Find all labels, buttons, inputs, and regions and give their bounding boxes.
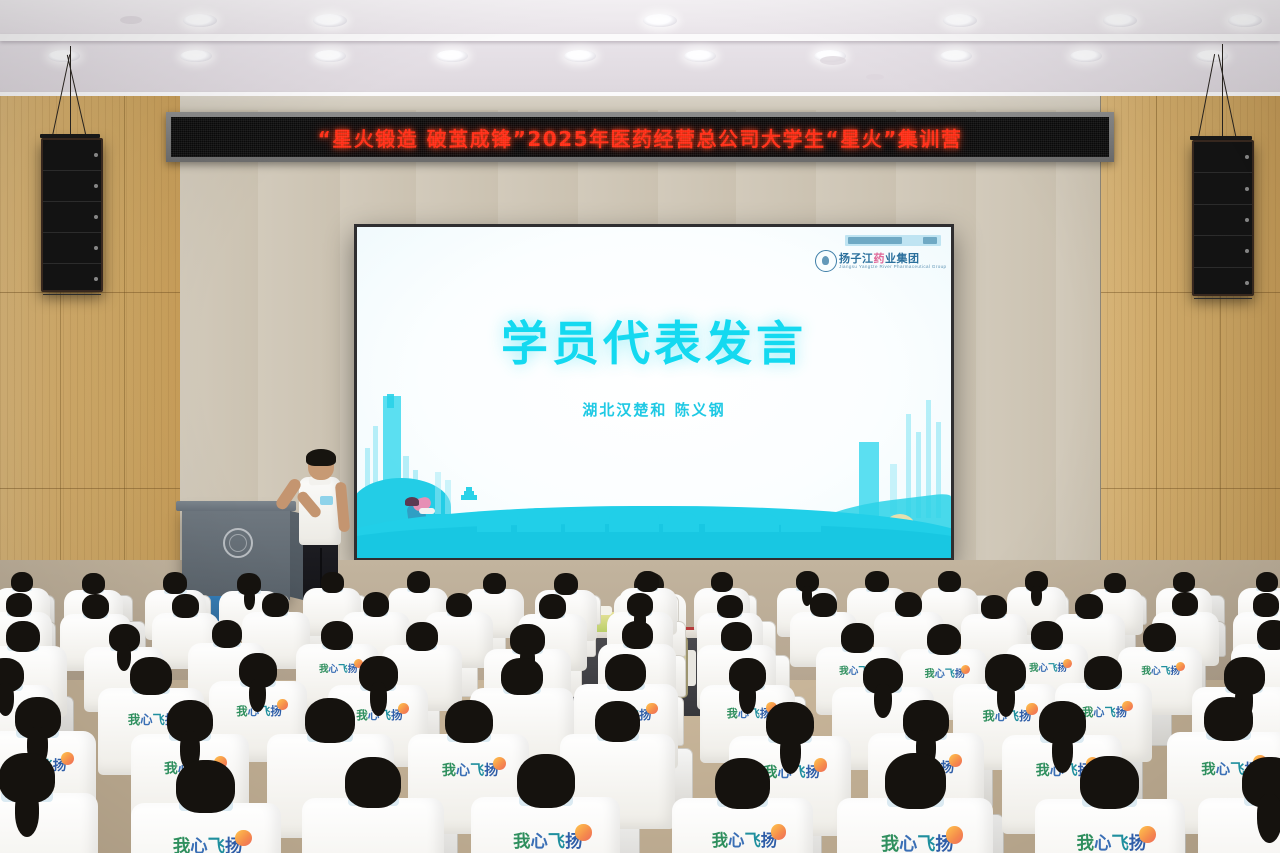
audience-member: [1198, 757, 1280, 853]
logo-tagline-bar: [845, 235, 941, 246]
speaker-segment: [43, 140, 101, 171]
audience-head: [1172, 592, 1198, 616]
audience-head: [1173, 572, 1195, 592]
ceiling-downlight: [183, 14, 217, 27]
audience-head: [1031, 621, 1063, 650]
audience-member: 我心飞扬: [471, 754, 620, 853]
ceiling-lower-band: [0, 41, 1280, 92]
ceiling-downlight: [643, 14, 677, 27]
audience-head: [717, 595, 743, 618]
wave-bump: [749, 514, 779, 532]
audience-head: [212, 620, 243, 648]
pagoda-tier: [461, 495, 477, 500]
audience-head: [721, 622, 752, 650]
audience-head: [938, 571, 960, 591]
audience-ponytail: [1257, 794, 1280, 843]
audience-head: [321, 621, 354, 651]
audience-head: [130, 657, 172, 695]
audience-head: [895, 592, 923, 617]
audience-member: 我心飞扬: [672, 758, 813, 853]
uniform-logo-text: 我心飞扬: [1077, 836, 1147, 853]
audience-head: [176, 760, 235, 814]
audience-head: [1080, 756, 1139, 810]
uniform-logo-text: 我心飞扬: [513, 834, 582, 851]
audience-head: [1075, 594, 1103, 619]
audience-head: [841, 623, 874, 653]
audience-head: [554, 573, 578, 595]
ceiling-downlight: [940, 50, 972, 62]
ceiling-downlight: [1070, 50, 1102, 62]
wood-seam: [0, 488, 180, 489]
pagoda-tier: [466, 487, 472, 491]
uniform-logo-text: 我心飞扬: [173, 839, 243, 853]
ceiling-downlight: [684, 50, 716, 62]
audience-head: [1143, 623, 1176, 653]
slide-title: 学员代表发言: [357, 305, 951, 374]
uniform-logo-text: 我心飞扬: [712, 833, 777, 849]
line-array-speaker: [41, 138, 103, 292]
illustration-figure-arm: [419, 508, 435, 514]
speaker-segment: [1194, 236, 1252, 267]
audience-ponytail: [15, 789, 39, 837]
audience-head: [865, 571, 889, 593]
ceiling-downlight: [1103, 14, 1137, 27]
audience-head: [1256, 572, 1278, 592]
logo-emblem-icon: [815, 250, 837, 272]
audience-head: [305, 698, 355, 743]
audience-head: [636, 571, 659, 592]
wall-panel: [976, 96, 1057, 616]
audience-seating: 我心飞扬我心飞扬我心飞扬我心飞扬我心飞扬我心飞扬我心飞扬我心飞扬我心飞扬我心飞扬…: [0, 560, 1280, 853]
ceiling-lip-upper: [0, 34, 1280, 41]
audience-head: [11, 572, 33, 592]
wood-seam: [1100, 488, 1280, 489]
audience-member: 我心飞扬: [1035, 756, 1185, 853]
audience-head: [345, 757, 401, 808]
pagoda-tier: [464, 491, 474, 495]
wave-bump: [663, 512, 699, 532]
ceiling-downlight: [313, 14, 347, 27]
uniform-logo-sun: [771, 824, 787, 840]
wood-seam: [1156, 96, 1157, 616]
audience-member: 我心飞扬: [131, 760, 281, 853]
audience-head: [262, 593, 289, 617]
wall-top-strip: [180, 96, 1100, 110]
uniform-logo-sun: [575, 824, 591, 840]
audience-head: [6, 593, 32, 617]
wall-panel: [1056, 96, 1101, 616]
speaker-segment: [1194, 173, 1252, 204]
audience-head: [810, 593, 836, 617]
audience-head: [605, 654, 646, 691]
audience-head: [1204, 697, 1253, 741]
line-array-speaker: [1192, 140, 1254, 296]
ceiling-vent: [866, 74, 884, 80]
uniform-logo-sun: [946, 826, 963, 843]
audience-member: [302, 757, 444, 853]
speaker-segment: [1194, 205, 1252, 236]
ceiling-downlight: [314, 50, 346, 62]
wave-bump: [609, 506, 659, 532]
audience-head: [927, 624, 961, 655]
speaker-segment: [43, 264, 101, 295]
ceiling: [0, 0, 1280, 96]
audience-head: [539, 594, 566, 619]
wood-seam: [124, 96, 125, 616]
building-antenna: [387, 394, 394, 408]
audience-head: [501, 658, 542, 695]
audience-head: [407, 571, 431, 592]
audience-head: [711, 572, 733, 592]
audience-head: [885, 753, 946, 809]
led-banner-screen: “星火锻造 破茧成锋”2025年医药经营总公司大学生“星火”集训营: [171, 117, 1109, 157]
wave-bump: [477, 512, 511, 532]
logo-english-name: Jiangsu Yangtze River Pharmaceutical Gro…: [839, 264, 946, 269]
speaker-segment: [43, 202, 101, 233]
audience-head: [595, 701, 640, 742]
speaker-segment: [1194, 268, 1252, 299]
audience-head: [6, 621, 40, 652]
ceiling-downlight: [436, 50, 468, 62]
ceiling-downlight: [48, 50, 80, 62]
presenter-hair: [306, 449, 336, 466]
uniform-logo-sun: [1139, 826, 1156, 843]
audience-head: [406, 622, 438, 651]
ceiling-downlight: [943, 14, 977, 27]
wave-bump: [705, 510, 749, 532]
wave-bump: [517, 508, 561, 532]
audience-head: [483, 573, 506, 594]
uniform-logo-text: 我心飞扬: [881, 836, 954, 853]
wave-bump: [565, 510, 605, 532]
speaker-segment: [43, 233, 101, 264]
audience-head: [517, 754, 576, 807]
ceiling-downlight: [564, 50, 596, 62]
ceiling-downlight: [1228, 14, 1262, 27]
podium-emblem-icon: [223, 528, 253, 558]
audience-head: [446, 593, 473, 617]
audience-head: [163, 572, 187, 594]
audience-head: [715, 758, 770, 808]
ceiling-vent: [120, 16, 142, 24]
conference-hall-photo: “星火锻造 破茧成锋”2025年医药经营总公司大学生“星火”集训营 扬子江药业集…: [0, 0, 1280, 853]
audience-head: [1104, 573, 1126, 593]
audience-ponytail: [1031, 586, 1041, 606]
audience-head: [172, 594, 198, 618]
audience-head: [445, 700, 493, 743]
slide-cityscape-artwork: [357, 393, 951, 558]
led-banner-text: “星火锻造 破茧成锋”2025年医药经营总公司大学生“星火”集训营: [318, 123, 963, 152]
building: [445, 480, 451, 514]
audience-head: [82, 594, 110, 619]
audience-head: [981, 595, 1007, 619]
audience-head: [1084, 656, 1122, 690]
speaker-segment: [43, 171, 101, 202]
company-logo: 扬子江药业集团 Jiangsu Yangtze River Pharmaceut…: [813, 235, 941, 275]
ceiling-vent: [820, 56, 846, 65]
audience-head: [1257, 620, 1280, 650]
audience-head: [622, 621, 653, 649]
speaker-cable: [1222, 44, 1223, 136]
uniform-logo-sun: [814, 758, 827, 771]
audience-head: [321, 572, 344, 593]
illustration-figure-hair: [405, 497, 419, 506]
led-banner: “星火锻造 破茧成锋”2025年医药经营总公司大学生“星火”集训营: [166, 112, 1114, 162]
speaker-cable: [70, 46, 71, 134]
presenter-badge: [320, 496, 333, 505]
audience-member: [0, 753, 98, 853]
projection-screen-bezel: 扬子江药业集团 Jiangsu Yangtze River Pharmaceut…: [354, 224, 954, 561]
audience-head: [82, 573, 105, 594]
wave-bump: [781, 510, 821, 532]
projection-screen: 扬子江药业集团 Jiangsu Yangtze River Pharmaceut…: [357, 227, 951, 558]
speaker-segment: [1194, 142, 1252, 173]
audience-head: [1253, 593, 1279, 616]
audience-head: [363, 592, 390, 616]
building: [435, 472, 441, 514]
ceiling-downlight: [180, 50, 212, 62]
audience-member: 我心飞扬: [837, 753, 993, 853]
